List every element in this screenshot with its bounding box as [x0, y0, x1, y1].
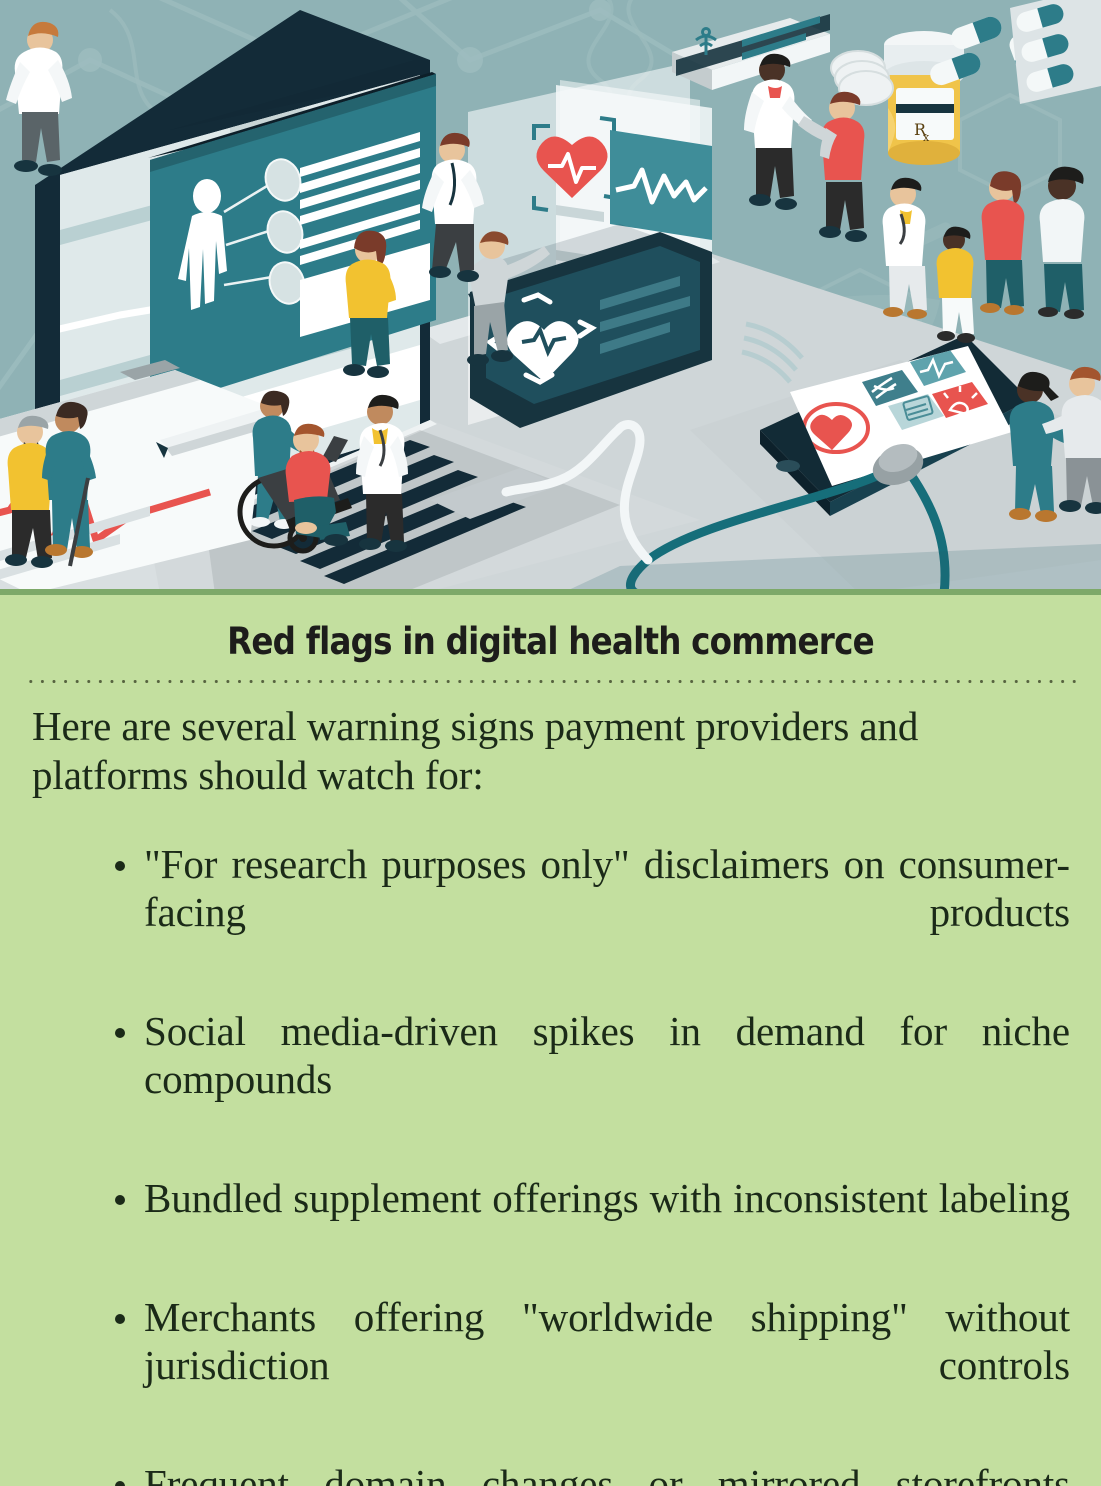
- svg-text:x: x: [923, 131, 930, 144]
- hero-illustration: R x: [0, 0, 1101, 594]
- dotted-divider: [25, 679, 1076, 684]
- content-panel: Red flags in digital health commerce Her…: [0, 594, 1101, 1486]
- intro-paragraph: Here are several warning signs payment p…: [32, 702, 1070, 800]
- list-item: Social media-driven spikes in demand for…: [110, 1007, 1070, 1151]
- list-item: Frequent domain changes or mirrored stor…: [110, 1460, 1070, 1486]
- list-item-text: Frequent domain changes or mirrored stor…: [144, 1461, 1070, 1486]
- red-flags-list: "For research purposes only" disclaimers…: [110, 840, 1070, 1486]
- infographic-card: R x: [0, 0, 1101, 1486]
- list-item-text: Merchants offering "worldwide shipping" …: [144, 1294, 1070, 1388]
- page-title: Red flags in digital health commerce: [66, 620, 1035, 663]
- list-item: Merchants offering "worldwide shipping" …: [110, 1293, 1070, 1437]
- list-item: Bundled supplement offerings with incons…: [110, 1174, 1070, 1270]
- list-item: "For research purposes only" disclaimers…: [110, 840, 1070, 984]
- panel-seam-divider: [0, 589, 1101, 595]
- list-item-text: Social media-driven spikes in demand for…: [144, 1008, 1070, 1102]
- list-item-text: Bundled supplement offerings with incons…: [144, 1175, 1070, 1221]
- list-item-text: "For research purposes only" disclaimers…: [144, 841, 1070, 935]
